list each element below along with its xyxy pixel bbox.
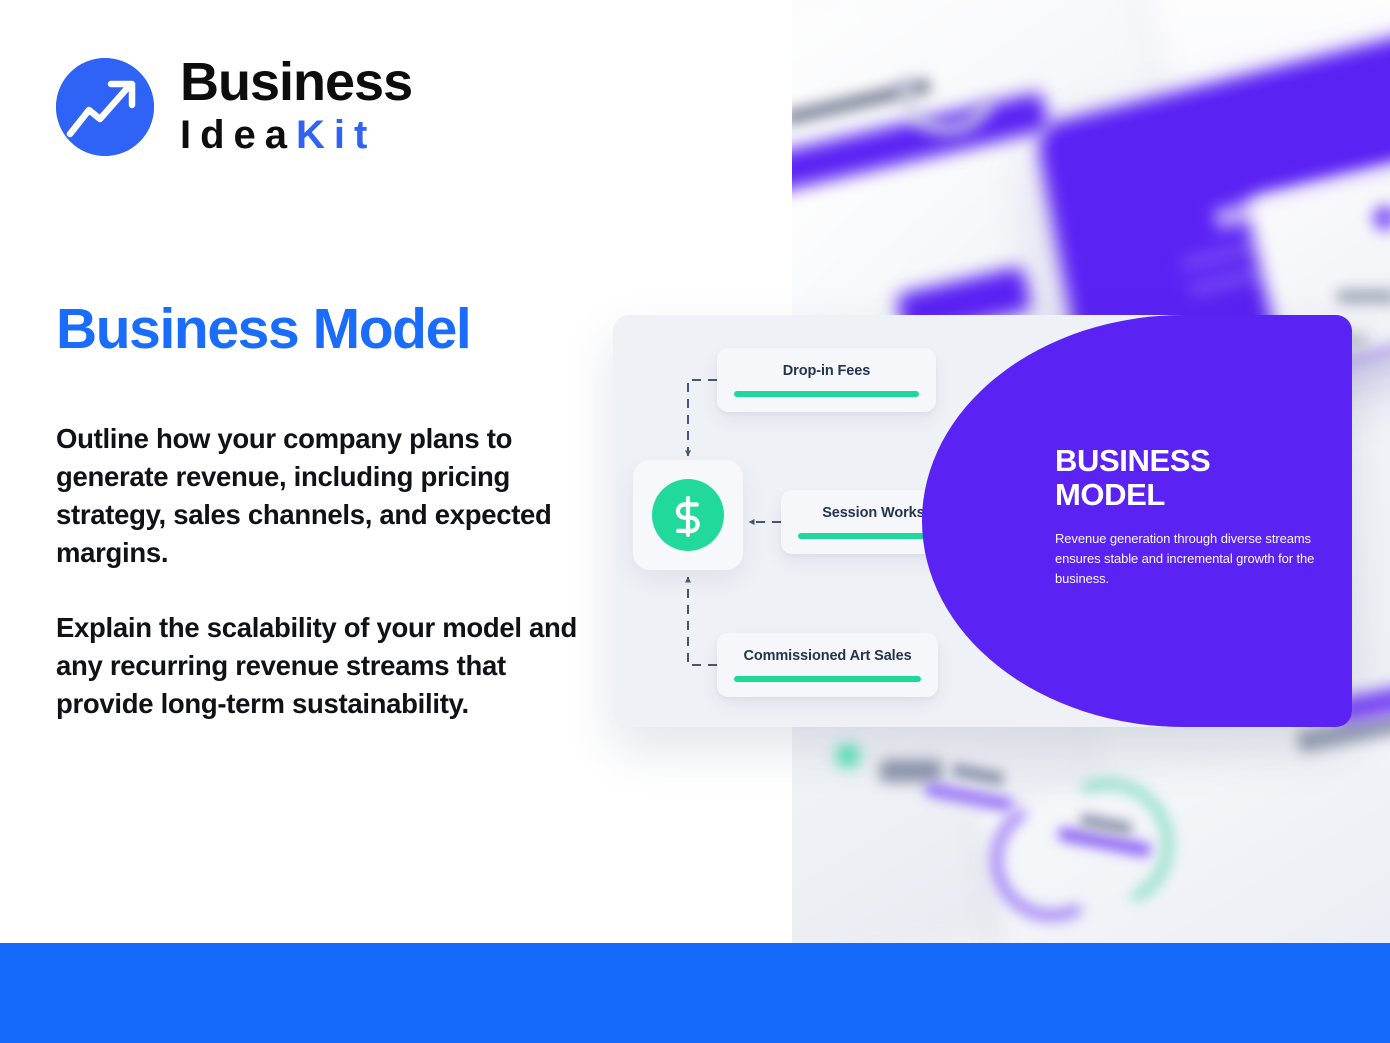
panel-title-line1: BUSINESS — [1055, 444, 1323, 478]
trending-up-arrow-icon — [56, 58, 154, 156]
business-model-card: Drop-in Fees Session Workshops Commissio… — [613, 315, 1352, 727]
revenue-node[interactable]: Drop-in Fees — [717, 348, 936, 412]
panel-content: BUSINESS MODEL Revenue generation throug… — [1055, 444, 1323, 590]
brand-wordmark: Business IdeaKit — [180, 55, 412, 158]
bg-green-dot-icon — [837, 745, 859, 767]
revenue-hub — [633, 460, 743, 570]
bg-gray-bar-3 — [880, 760, 942, 782]
revenue-node-label: Drop-in Fees — [783, 363, 870, 379]
revenue-node-label: Commissioned Art Sales — [743, 648, 911, 664]
brand-name-kit: Kit — [296, 113, 376, 157]
body-paragraph-1: Outline how your company plans to genera… — [56, 420, 596, 572]
bg-gray-bar-1 — [1337, 290, 1390, 303]
revenue-node[interactable]: Commissioned Art Sales — [717, 633, 938, 697]
slide-page: Business IdeaKit Business Model Outline … — [0, 0, 1390, 1043]
panel-title: BUSINESS MODEL — [1055, 444, 1323, 512]
revenue-node-progress-bar — [734, 391, 919, 397]
page-title: Business Model — [56, 298, 470, 361]
brand-logo: Business IdeaKit — [56, 55, 412, 158]
body-paragraph-2: Explain the scalability of your model an… — [56, 609, 596, 723]
brand-name-line2: IdeaKit — [180, 112, 412, 158]
revenue-node-progress-bar — [734, 676, 921, 682]
panel-title-line2: MODEL — [1055, 478, 1323, 512]
dollar-sign-icon — [652, 479, 724, 551]
footer-bar — [0, 943, 1390, 1043]
panel-description: Revenue generation through diverse strea… — [1055, 529, 1323, 589]
brand-name-line1: Business — [180, 55, 412, 110]
